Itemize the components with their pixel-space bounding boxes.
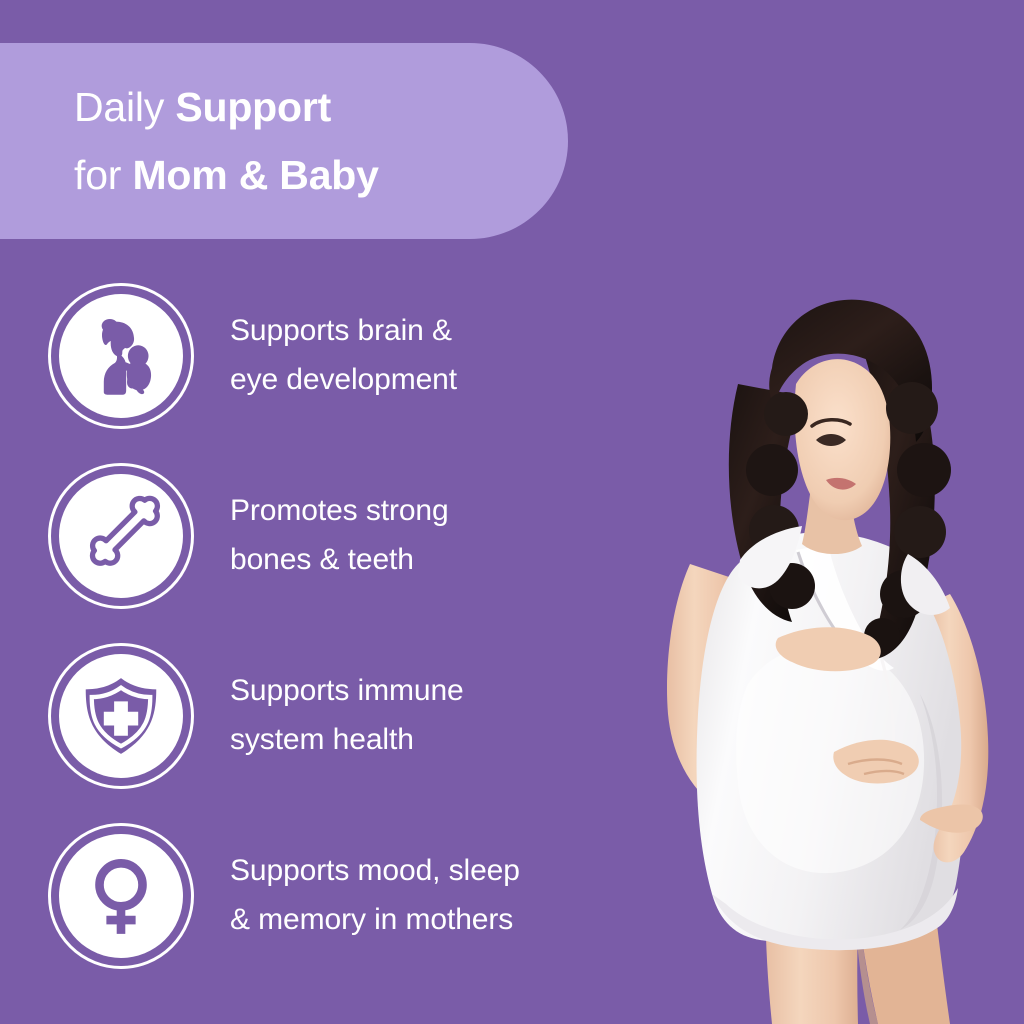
headline-daily: Daily xyxy=(74,84,175,130)
icon-badge-3 xyxy=(48,643,194,789)
curl xyxy=(764,392,808,436)
icon-badge-2 xyxy=(48,463,194,609)
header-banner: Daily Support for Mom & Baby xyxy=(0,43,568,239)
benefits-list: Supports brain & eye development Promote… xyxy=(48,282,648,970)
benefit-item-immune: Supports immune system health xyxy=(48,642,648,790)
headline-mom-and-baby: Mom & Baby xyxy=(132,152,378,198)
promo-canvas: Daily Support for Mom & Baby xyxy=(0,0,1024,1024)
benefit-item-brain-eye: Supports brain & eye development xyxy=(48,282,648,430)
benefit-item-bones-teeth: Promotes strong bones & teeth xyxy=(48,462,648,610)
mother-and-baby-icon xyxy=(78,313,164,399)
curl xyxy=(894,506,946,558)
shield-cross-icon xyxy=(78,673,164,759)
benefit-label-1: Supports brain & eye development xyxy=(230,307,457,404)
curl xyxy=(897,443,951,497)
benefit-item-mood-sleep-memory: Supports mood, sleep & memory in mothers xyxy=(48,822,648,970)
pregnant-woman-photo xyxy=(620,264,1024,1024)
headline-support: Support xyxy=(175,84,331,130)
icon-badge-4 xyxy=(48,823,194,969)
headline-for: for xyxy=(74,152,132,198)
curl xyxy=(886,382,938,434)
benefit-label-3: Supports immune system health xyxy=(230,667,464,764)
curl xyxy=(746,444,798,496)
icon-badge-1 xyxy=(48,283,194,429)
female-venus-symbol-icon xyxy=(78,853,164,939)
headline-line-2: for Mom & Baby xyxy=(74,155,568,196)
benefit-label-4: Supports mood, sleep & memory in mothers xyxy=(230,847,520,944)
bone-icon xyxy=(78,493,164,579)
benefit-label-2: Promotes strong bones & teeth xyxy=(230,487,449,584)
headline-line-1: Daily Support xyxy=(74,87,568,128)
